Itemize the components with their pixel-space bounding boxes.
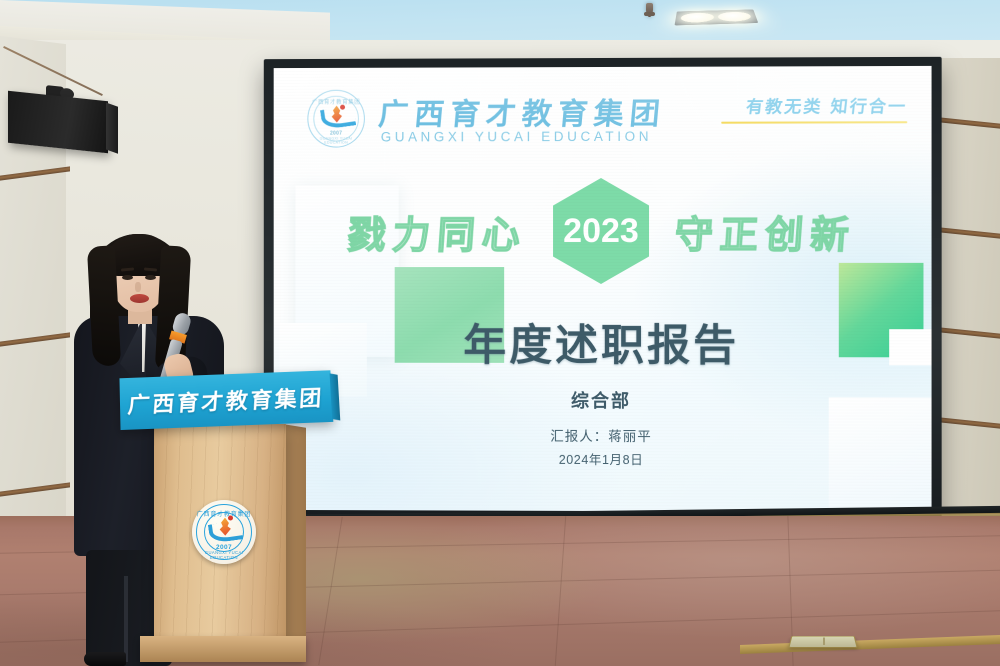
emblem-english-arc: GUANGXI YUCAI EDUCATION [307,137,365,145]
screenshot-root: 广西育才教育集团 2007 GUANGXI YUCAI EDUCATION 广西… [0,0,1000,666]
podium-banner: 广西育才教育集团 [119,370,333,430]
emblem-mark-icon [321,106,351,130]
slide-main-title: 年度述职报告 [274,311,932,374]
slide-emblem-logo: 广西育才教育集团 2007 GUANGXI YUCAI EDUCATION [307,90,365,148]
headline-right-text: 守正创新 [673,203,858,258]
podium-base [140,636,306,662]
presenter-eye-right [145,275,156,280]
slide-headline-row: 戮力同心 2023 守正创新 [274,184,932,277]
podium-emblem-mark-icon [209,518,239,543]
slide-slogan-block: 有教无类 知行合一 [721,92,907,124]
headline-left-text: 戮力同心 [346,204,529,259]
year-hexagon-badge: 2023 [553,178,649,284]
ceiling-light-lamp-right [717,11,752,21]
slide-slogan-text: 有教无类 知行合一 [720,92,909,118]
slide-reporter: 汇报人：蒋丽平 [274,424,932,445]
presenter-nose [135,282,141,292]
emblem-dot-icon [340,105,345,110]
ceiling-light [675,9,759,25]
podium-side-panel [284,424,306,639]
podium: 广西育才教育集团 2007 GUANGXI YUCAI EDUCATION 广西… [124,424,314,666]
podium-emblem-dot-icon [228,516,233,521]
floor-outlet-cover [788,636,857,648]
presentation-slide: 广西育才教育集团 2007 GUANGXI YUCAI EDUCATION 广西… [274,66,932,512]
podium-emblem: 广西育才教育集团 2007 GUANGXI YUCAI EDUCATION [192,500,256,564]
slide-slogan-underline [721,121,907,123]
wall-speaker [8,91,108,154]
slide-brand-english: GUANGXI YUCAI EDUCATION [381,129,652,145]
sprinkler-head-icon [646,3,653,17]
slide-brand-chinese: 广西育才教育集团 [377,89,668,134]
podium-emblem-english-arc: GUANGXI YUCAI EDUCATION [192,550,256,560]
presenter-mouth [130,294,149,303]
slide-date: 2024年1月8日 [274,448,932,469]
presenter-shoe [84,652,126,666]
year-hexagon-label: 2023 [563,211,639,250]
slide-department: 综合部 [274,387,932,414]
ceiling-light-lamp-left [680,12,714,23]
projection-screen-frame: 广西育才教育集团 2007 GUANGXI YUCAI EDUCATION 广西… [264,57,942,521]
podium-banner-text: 广西育才教育集团 [127,380,325,419]
presenter-eye-left [122,275,133,280]
